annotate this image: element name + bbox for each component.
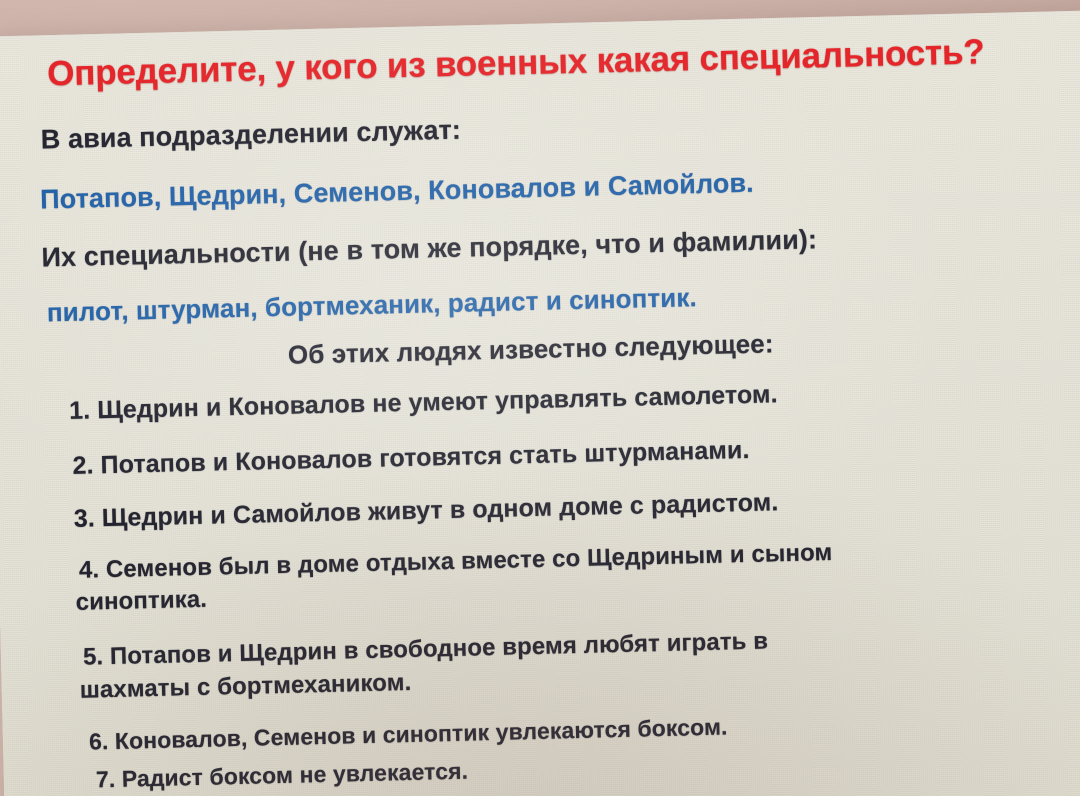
clue-item-4-continued: синоптика.: [75, 586, 207, 617]
known-facts-heading: Об этих людях известно следующее:: [288, 328, 774, 370]
slide-photo-frame: Определите, у кого из военных какая спец…: [0, 0, 1080, 796]
clue-item-3: 3. Щедрин и Самойлов живут в одном доме …: [73, 488, 778, 534]
clue-item-6: 6. Коновалов, Семенов и синоптик увлекаю…: [89, 714, 728, 756]
clue-item-5-continued: шахматы с бортмехаником.: [79, 669, 411, 705]
clue-item-1: 1. Щедрин и Коновалов не умеют управлять…: [69, 380, 778, 426]
specialties-prompt-line: Их специальности (не в том же порядке, ч…: [41, 224, 817, 273]
clue-item-4: 4. Семенов был в доме отдыха вместе со Щ…: [79, 539, 833, 585]
slide-content: Определите, у кого из военных какая спец…: [0, 8, 1080, 796]
slide-title: Определите, у кого из военных какая спец…: [47, 32, 985, 94]
clue-item-7: 7. Радист боксом не увлекается.: [96, 758, 469, 794]
intro-line: В авиа подразделении служат:: [40, 115, 461, 156]
clue-item-2: 2. Потапов и Коновалов готовятся стать ш…: [72, 436, 750, 481]
names-line: Потапов, Щедрин, Семенов, Коновалов и Са…: [40, 168, 754, 216]
specialties-line: пилот, штурман, бортмеханик, радист и си…: [47, 282, 698, 328]
clue-item-5: 5. Потапов и Щедрин в свободное время лю…: [83, 628, 769, 672]
